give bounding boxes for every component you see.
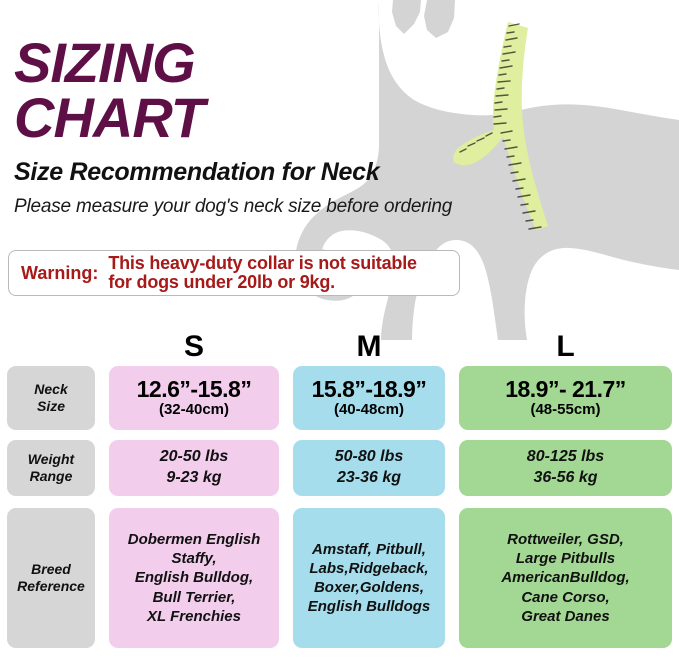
neck-size-cm-s: (32-40cm)	[159, 402, 229, 419]
size-header-l: L	[459, 330, 672, 364]
row-label-text: Breed Reference	[17, 561, 85, 595]
weight-range-text-s: 20-50 lbs 9-23 kg	[160, 447, 228, 489]
size-header-s: S	[109, 330, 279, 364]
breed-reference-text-s: Dobermen English Staffy, English Bulldog…	[128, 530, 261, 626]
weight-range-cell-s: 20-50 lbs 9-23 kg	[109, 440, 279, 496]
breed-reference-cell-s: Dobermen English Staffy, English Bulldog…	[109, 508, 279, 648]
header-spacer-cell	[7, 330, 95, 364]
row-label-text: Neck Size	[34, 381, 67, 415]
weight-range-text-l: 80-125 lbs 36-56 kg	[527, 447, 604, 489]
row-label-text: Weight Range	[28, 451, 74, 485]
warning-text: This heavy-duty collar is not suitable f…	[108, 254, 416, 293]
breed-reference-cell-m: Amstaff, Pitbull, Labs,Ridgeback, Boxer,…	[293, 508, 445, 648]
dog-body-shape	[392, 0, 421, 34]
row-label-breed-reference: Breed Reference	[7, 508, 95, 648]
breed-reference-cell-l: Rottweiler, GSD, Large Pitbulls American…	[459, 508, 672, 648]
warning-box: Warning: This heavy-duty collar is not s…	[8, 250, 460, 296]
header-block: SIZING CHART Size Recommendation for Nec…	[14, 36, 484, 218]
neck-size-cm-l: (48-55cm)	[530, 402, 600, 419]
measure-instruction: Please measure your dog's neck size befo…	[14, 196, 484, 218]
table-header-row: S M L	[0, 330, 679, 364]
weight-range-cell-m: 50-80 lbs 23-36 kg	[293, 440, 445, 496]
row-label-weight-range: Weight Range	[7, 440, 95, 496]
neck-size-cell-s: 12.6”-15.8” (32-40cm)	[109, 366, 279, 430]
neck-size-inches-s: 12.6”-15.8”	[137, 377, 252, 401]
table-row: Weight Range 20-50 lbs 9-23 kg 50-80 lbs…	[0, 440, 679, 496]
dog-head-shape	[424, 0, 455, 38]
neck-size-cell-l: 18.9”- 21.7” (48-55cm)	[459, 366, 672, 430]
page-subtitle: Size Recommendation for Neck	[14, 158, 484, 187]
neck-size-cell-m: 15.8”-18.9” (40-48cm)	[293, 366, 445, 430]
size-header-m: M	[293, 330, 445, 364]
neck-size-inches-l: 18.9”- 21.7”	[505, 377, 626, 401]
weight-range-cell-l: 80-125 lbs 36-56 kg	[459, 440, 672, 496]
sizing-table: S M L Neck Size 12.6”-15.8” (32-40cm) 15…	[0, 330, 679, 648]
breed-reference-text-l: Rottweiler, GSD, Large Pitbulls American…	[501, 530, 629, 626]
weight-range-text-m: 50-80 lbs 23-36 kg	[335, 447, 403, 489]
row-label-neck-size: Neck Size	[7, 366, 95, 430]
page-title: SIZING CHART	[14, 36, 484, 146]
neck-size-cm-m: (40-48cm)	[334, 402, 404, 419]
breed-reference-text-m: Amstaff, Pitbull, Labs,Ridgeback, Boxer,…	[308, 540, 431, 617]
neck-size-inches-m: 15.8”-18.9”	[312, 377, 427, 401]
table-row: Breed Reference Dobermen English Staffy,…	[0, 508, 679, 648]
warning-label: Warning:	[9, 263, 108, 284]
table-row: Neck Size 12.6”-15.8” (32-40cm) 15.8”-18…	[0, 366, 679, 430]
